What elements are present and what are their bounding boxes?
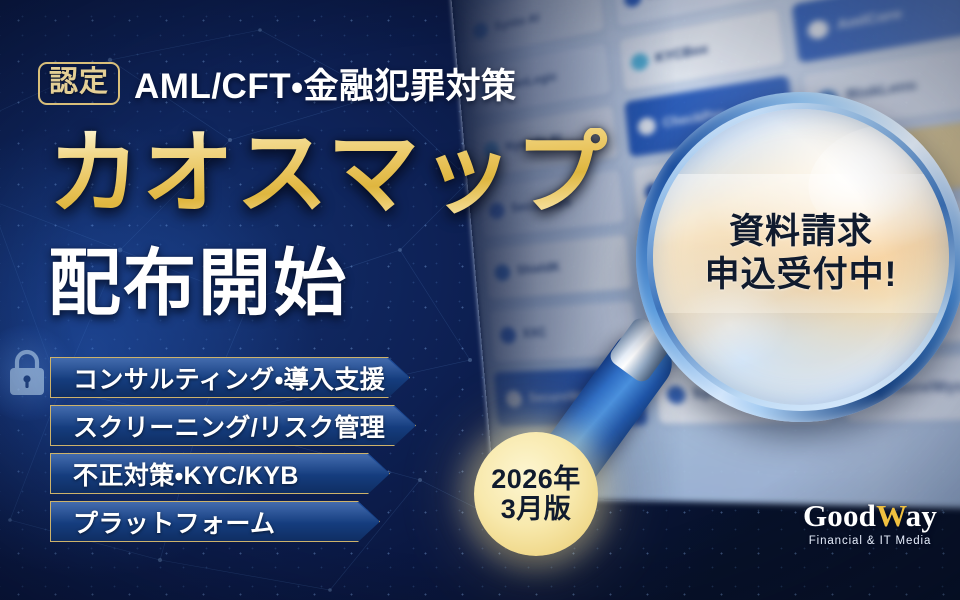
brand-name-highlight: W [876, 498, 906, 533]
page-title-main: カオスマップ [48, 128, 609, 220]
brand-name-part2: ay [906, 498, 937, 533]
banner-canvas: SyntoAIFinGuardDataSafeProRiskSynto AIFi… [0, 0, 960, 600]
category-tag-list: コンサルティング・導入支援スクリーニング/リスク管理不正対策・KYC/KYBプラ… [50, 357, 416, 549]
brand-name: GoodWay [786, 500, 954, 531]
category-tag-label: 不正対策・KYC/KYB [73, 456, 299, 492]
category-tag: 不正対策・KYC/KYB [50, 453, 390, 494]
header-row: 認定 AML/CFT・金融犯罪対策 [38, 58, 517, 109]
brand-logo: GoodWay Financial & IT Media [786, 500, 954, 547]
edition-badge: 2026年 3月版 [474, 432, 598, 556]
category-tag-label: プラットフォーム [73, 504, 275, 540]
edition-month: 3月版 [501, 494, 572, 524]
category-tag-label: コンサルティング・導入支援 [73, 360, 385, 396]
brand-tagline: Financial & IT Media [786, 535, 954, 547]
brand-name-part1: Good [803, 498, 876, 533]
callout-line-2: 申込受付中! [705, 254, 898, 297]
header-title: AML/CFT・金融犯罪対策 [134, 58, 516, 109]
category-tag: コンサルティング・導入支援 [50, 357, 410, 398]
category-tag-label: スクリーニング/リスク管理 [73, 408, 385, 444]
certification-badge: 認定 [38, 62, 120, 105]
category-tag: プラットフォーム [50, 501, 380, 542]
magnifier-callout-text: 資料請求 申込受付中! [705, 211, 898, 302]
edition-year: 2026年 [491, 464, 581, 494]
category-tag: スクリーニング/リスク管理 [50, 405, 416, 446]
callout-line-1: 資料請求 [705, 211, 898, 254]
page-title-sub: 配布開始 [48, 247, 348, 320]
